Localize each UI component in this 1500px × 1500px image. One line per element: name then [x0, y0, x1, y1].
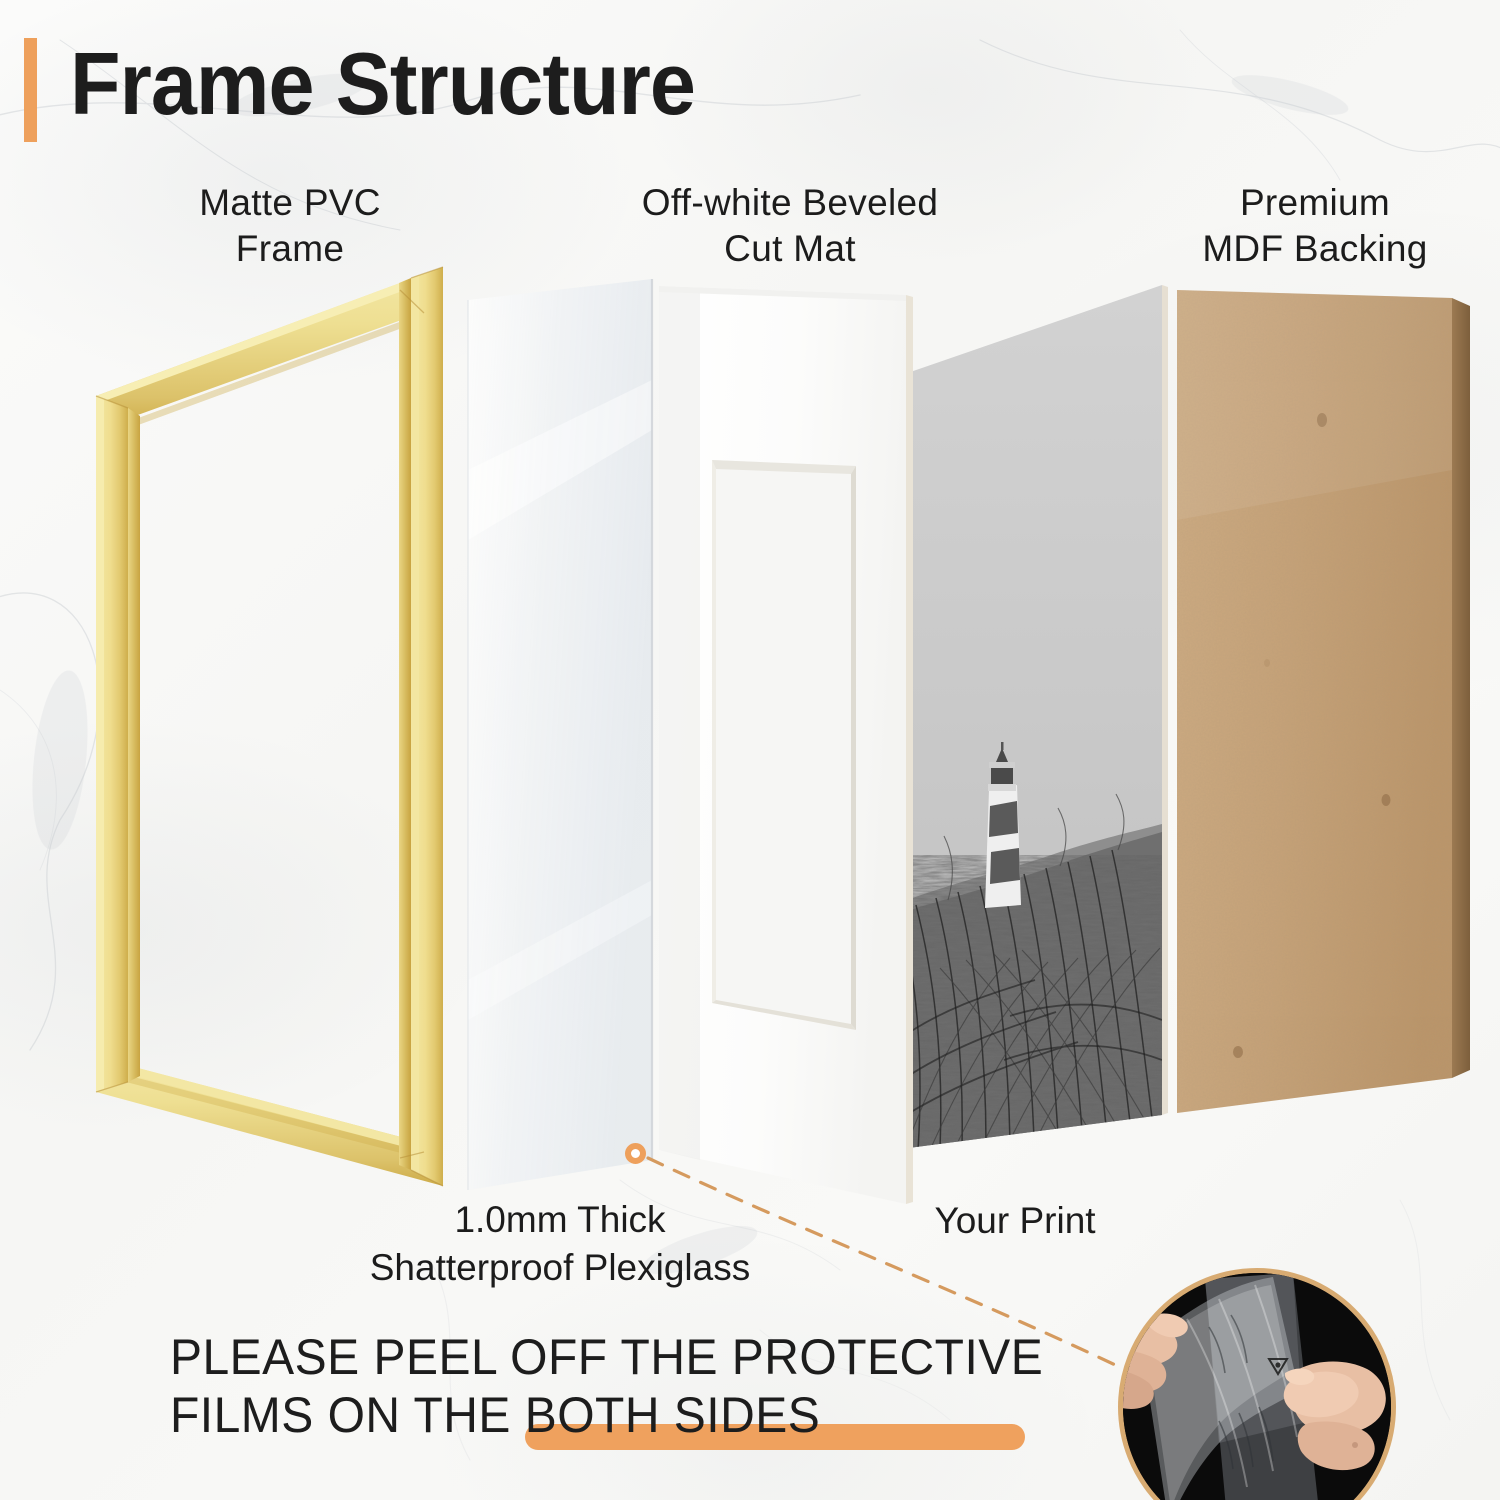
warning-line-2: FILMS ON THE BOTH SIDES: [170, 1386, 1015, 1444]
label-your-print: Your Print: [890, 1200, 1140, 1242]
callout-marker-dot: [625, 1143, 646, 1164]
layer-mdf-backing: [1177, 285, 1470, 1120]
label-plexiglass: 1.0mm Thick Shatterproof Plexiglass: [280, 1196, 840, 1292]
warning-block: PLEASE PEEL OFF THE PROTECTIVE FILMS ON …: [170, 1328, 1050, 1444]
layer-pvc-frame: [96, 267, 443, 1186]
layer-photo-print: [880, 285, 1180, 1165]
warning-line-1: PLEASE PEEL OFF THE PROTECTIVE: [170, 1328, 1015, 1386]
layer-plexiglass: [468, 279, 652, 1190]
layer-cut-mat: [659, 286, 913, 1204]
